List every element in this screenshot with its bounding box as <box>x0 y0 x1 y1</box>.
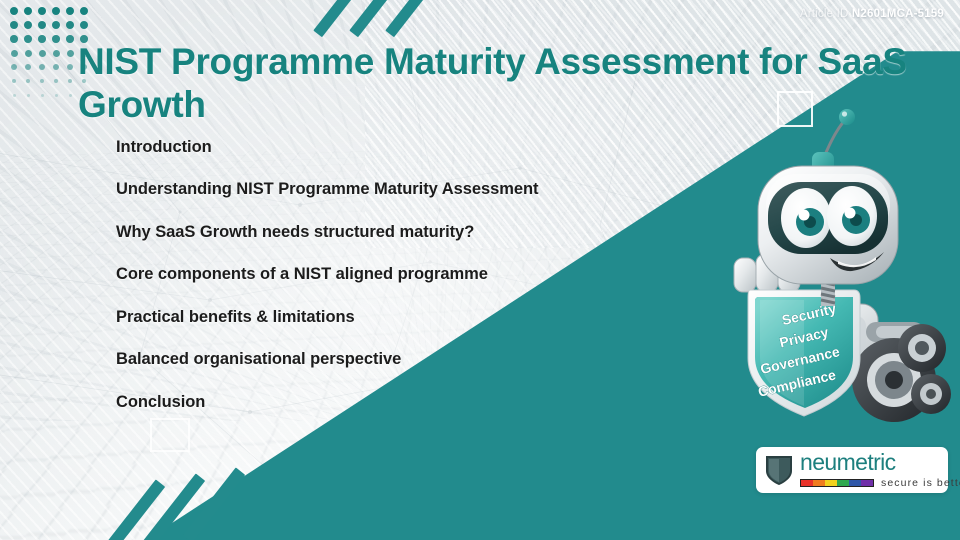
diagonal-stripes-bottom <box>128 468 278 540</box>
agenda-item: Practical benefits & limitations <box>116 308 716 327</box>
article-id-label: Article ID <box>800 8 849 20</box>
article-id: Article ID N2601MCA-5159 <box>800 8 944 20</box>
agenda-list: Introduction Understanding NIST Programm… <box>116 138 716 435</box>
agenda-item: Understanding NIST Programme Maturity As… <box>116 180 716 199</box>
logo-tagline: secure is better <box>881 477 960 489</box>
presentation-slide: Article ID N2601MCA-5159 NIST Programme … <box>0 0 960 540</box>
robot-mascot: Security Privacy Governance Compliance <box>726 108 960 438</box>
logo-subline: secure is better <box>800 477 960 489</box>
logo-text-block: neumetric secure is better <box>800 451 960 489</box>
diagonal-stripes-top <box>330 0 460 40</box>
dot-grid-row <box>7 4 91 18</box>
agenda-item: Conclusion <box>116 393 716 412</box>
neumetric-logo: neumetric secure is better <box>756 447 948 493</box>
logo-color-bar <box>800 479 874 487</box>
logo-wordmark: neumetric <box>800 451 960 474</box>
agenda-item: Why SaaS Growth needs structured maturit… <box>116 223 716 242</box>
agenda-item: Introduction <box>116 138 716 157</box>
agenda-item: Core components of a NIST aligned progra… <box>116 265 716 284</box>
dot-grid-row <box>7 18 91 32</box>
shield-logo-icon <box>764 453 794 487</box>
article-id-value: N2601MCA-5159 <box>852 8 944 20</box>
shield: Security Privacy Governance Compliance <box>748 290 860 416</box>
robot-head <box>758 166 898 284</box>
agenda-item: Balanced organisational perspective <box>116 350 716 369</box>
